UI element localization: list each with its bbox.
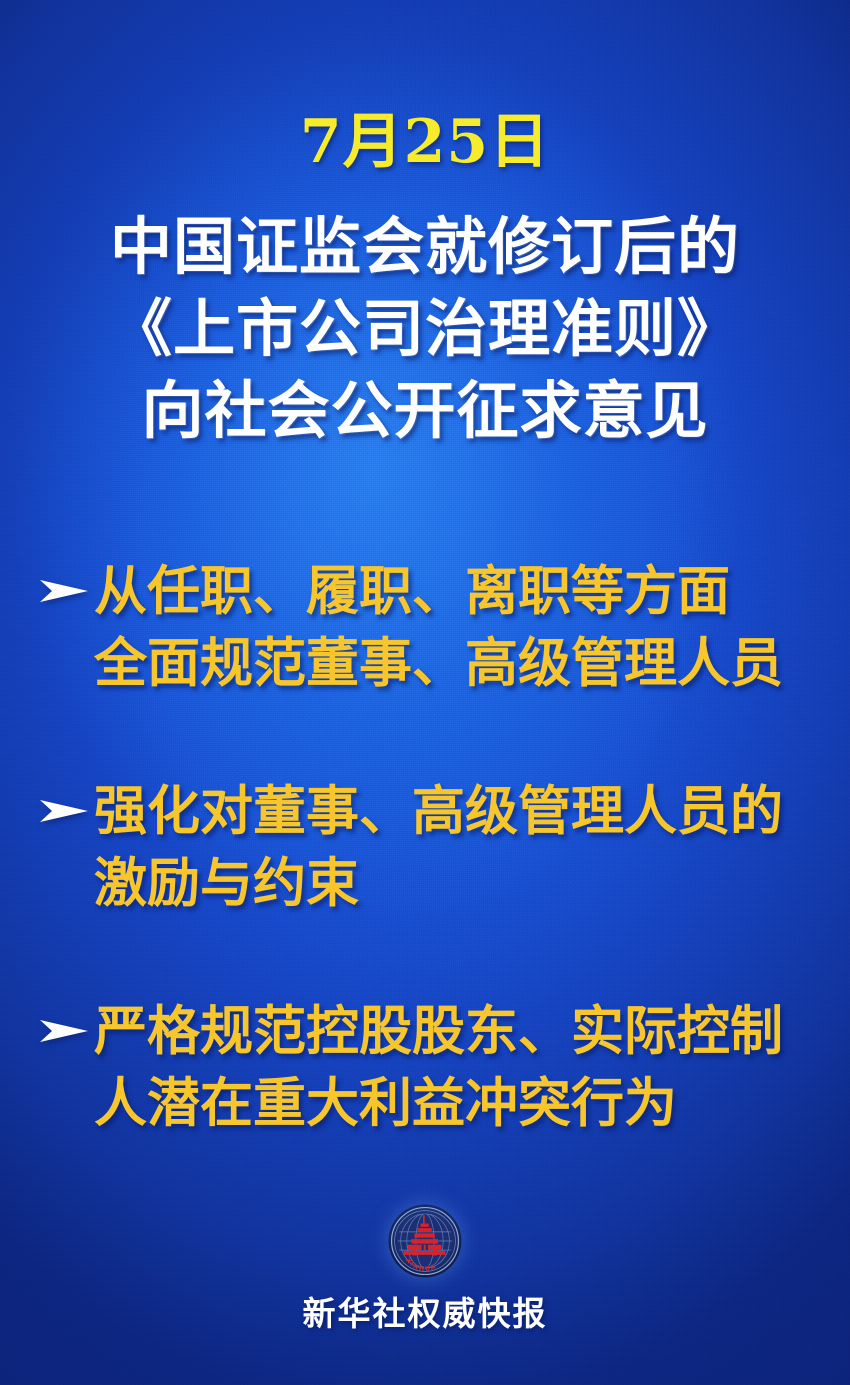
bullet-list: 从任职、履职、离职等方面 全面规范董事、高级管理人员 强化对董事、高级管理人员的… bbox=[0, 556, 850, 1140]
list-item-text: 强化对董事、高级管理人员的 激励与约束 bbox=[94, 776, 828, 920]
list-item-text: 严格规范控股股东、实际控制 人潜在重大利益冲突行为 bbox=[94, 996, 828, 1140]
bullet-2-line-2: 激励与约束 bbox=[94, 848, 828, 920]
bullet-3-line-2: 人潜在重大利益冲突行为 bbox=[94, 1068, 828, 1140]
footer-brand-label: 新华社权威快报 bbox=[0, 1287, 850, 1335]
headline-line-3: 向社会公开征求意见 bbox=[0, 370, 850, 452]
news-poster: 7月25日 中国证监会就修订后的 《上市公司治理准则》 向社会公开征求意见 从任… bbox=[0, 0, 850, 1385]
bullet-3-line-1: 严格规范控股股东、实际控制 bbox=[94, 996, 828, 1068]
date-label: 7月25日 bbox=[0, 112, 850, 172]
bullet-1-line-1: 从任职、履职、离职等方面 bbox=[94, 556, 828, 628]
list-item-text: 从任职、履职、离职等方面 全面规范董事、高级管理人员 bbox=[94, 556, 828, 700]
headline-line-1: 中国证监会就修订后的 bbox=[0, 206, 850, 288]
bullet-1-line-2: 全面规范董事、高级管理人员 bbox=[94, 628, 828, 700]
list-item: 强化对董事、高级管理人员的 激励与约束 bbox=[0, 776, 850, 920]
xinhua-agency-logo: XINHUA bbox=[387, 1203, 463, 1279]
headline-line-2: 《上市公司治理准则》 bbox=[0, 288, 850, 370]
page-title: 中国证监会就修订后的 《上市公司治理准则》 向社会公开征求意见 bbox=[0, 206, 850, 452]
footer: XINHUA 新华社权威快报 bbox=[0, 1203, 850, 1335]
arrow-right-icon bbox=[38, 1014, 90, 1048]
arrow-right-icon bbox=[38, 794, 90, 828]
list-item: 从任职、履职、离职等方面 全面规范董事、高级管理人员 bbox=[0, 556, 850, 700]
bullet-2-line-1: 强化对董事、高级管理人员的 bbox=[94, 776, 828, 848]
arrow-right-icon bbox=[38, 574, 90, 608]
list-item: 严格规范控股股东、实际控制 人潜在重大利益冲突行为 bbox=[0, 996, 850, 1140]
